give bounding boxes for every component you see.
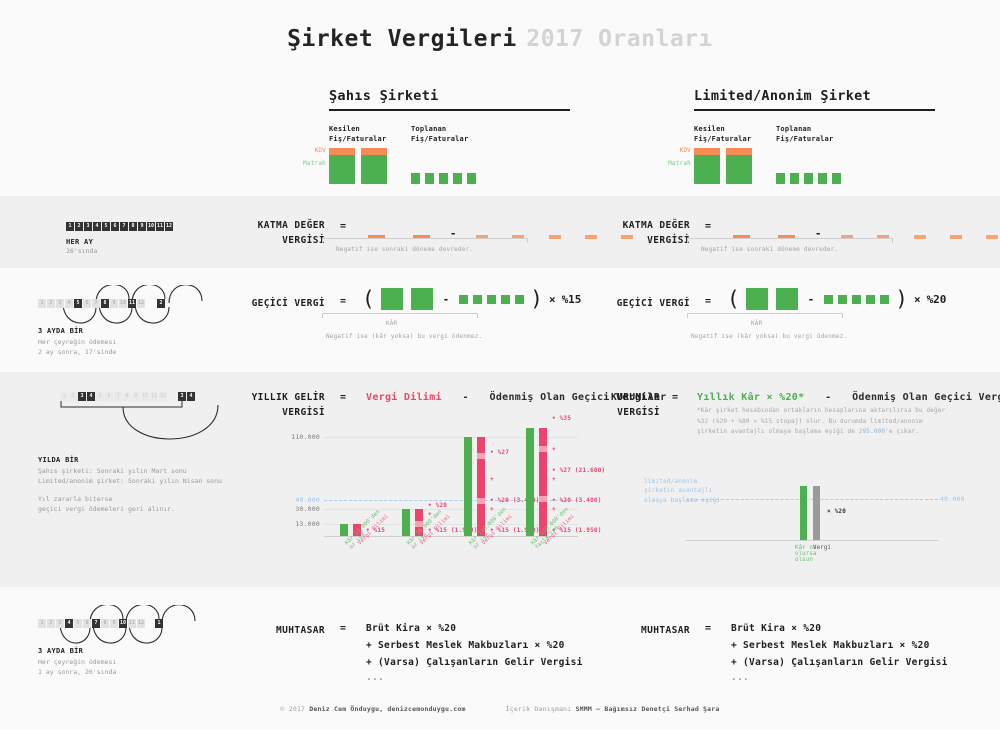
calendar-her-ay: 123456789101112 HER AY 26'sında xyxy=(66,222,173,256)
calendar-sub-3: Yıl zararla biterse xyxy=(38,494,112,504)
column-header-rule xyxy=(329,109,570,111)
muhtasar-line-1: Brüt Kira × %20 xyxy=(731,623,821,634)
calendar-cell-6: 6 xyxy=(83,619,91,628)
gecici-label: GEÇİCİ VERGİ xyxy=(195,296,325,311)
threshold-label: 40.000 xyxy=(278,496,320,504)
footer-copyright: © 2017 xyxy=(280,705,309,713)
muhtasar-equals-2: = xyxy=(705,623,711,634)
footer-advisor: SMMM – Bağımsız Denetçi Serhad Şara xyxy=(576,705,720,713)
toplanan-bar xyxy=(818,173,827,184)
y-tick-13.000: 13.000 xyxy=(278,520,320,528)
calendar-strip: 123456789101112 xyxy=(60,392,167,401)
calendar-cell-11: 11 xyxy=(150,392,158,401)
kdv-brace xyxy=(322,238,528,243)
tax-annotation-3-1: + xyxy=(552,446,556,453)
tax-annotation-3-3: + xyxy=(552,476,556,483)
calendar-cell-4: 4 xyxy=(65,299,73,308)
kurumlar-footnote: *Kâr şirket hesabından ortakların hesapl… xyxy=(697,406,945,438)
vergi-dilimi-term: Vergi Dilimi xyxy=(366,392,442,403)
chart-vergi-dilimi: 13.00030.000110.00040.000• %15Kâr 13.000… xyxy=(278,424,578,564)
toplanan-bar xyxy=(790,173,799,184)
calendar-cell-8: 8 xyxy=(101,619,109,628)
muhtasar-line-1: Brüt Kira × %20 xyxy=(366,623,456,634)
footnote-line-3: şirketin avantajlı olmaya başlama eşiği … xyxy=(697,427,945,438)
paren-close: ) xyxy=(530,287,543,311)
gider-bar xyxy=(880,295,889,304)
gecici-note-2: Negatif ise (kâr yoksa) bu vergi ödenmez… xyxy=(691,333,847,340)
calendar-cell-5: 5 xyxy=(74,619,82,628)
yillik-label-line2: VERGİSİ xyxy=(282,407,325,418)
chart-kurumlar-vergisi: 40.000Kâr neolursaolsunVergi× %20limited… xyxy=(686,478,966,568)
matrah-legend-label: Matrah xyxy=(661,160,691,167)
calendar-cell-9: 9 xyxy=(132,392,140,401)
calendar-cell-2: 2 xyxy=(75,222,83,231)
yillik-equals: = xyxy=(340,392,346,403)
calendar-cell-7: 7 xyxy=(120,222,128,231)
paren-open: ( xyxy=(362,287,375,311)
gecici-expression-limited: ( - ) × %20 xyxy=(727,287,946,311)
gider-bar xyxy=(487,295,496,304)
footnote-line-2: %32 (%20 + %80 × %15 stopaj) olur. Bu du… xyxy=(697,417,945,428)
calendar-cell-extra: 1 xyxy=(155,619,163,628)
kdv-bar-collected xyxy=(986,235,998,239)
calendar-cell-12: 12 xyxy=(159,392,167,401)
kar-bar xyxy=(381,288,403,310)
kurumlar-bar-label-1: Vergi xyxy=(813,545,831,551)
gider-bar xyxy=(501,295,510,304)
multiply-operator: × xyxy=(549,293,556,306)
toplanan-label: ToplananFiş/Faturalar xyxy=(411,124,476,144)
gecici-label-2: GEÇİCİ VERGİ xyxy=(560,296,690,311)
tax-annotation-3-5: + xyxy=(552,506,556,513)
kdv-label-line2: VERGİSİ xyxy=(282,235,325,246)
calendar-cell-1: 1 xyxy=(60,392,68,401)
kurumlar-bar-0 xyxy=(800,486,807,540)
calendar-sub-1: Her çeyreğin ödemesi xyxy=(38,657,116,667)
calendar-caption: HER AY xyxy=(66,238,173,246)
calendar-cell-extra: 2 xyxy=(157,299,165,308)
calendar-cell-3: 3 xyxy=(84,222,92,231)
calendar-sub-2: 1 ay sonra, 26'sında xyxy=(38,667,116,677)
kar-brace-label-2: KÂR xyxy=(751,320,762,327)
tax-annotation-2-0: • %27 xyxy=(490,449,509,456)
kesilen-bar xyxy=(694,148,720,184)
calendar-cell-11: 11 xyxy=(128,619,136,628)
threshold-annotation: limited/anonimşirketin avantajlıolmaya b… xyxy=(644,477,720,506)
gider-bar xyxy=(515,295,524,304)
toplanan-bar xyxy=(439,173,448,184)
column-header-sahis-label: Şahıs Şirketi xyxy=(329,88,570,109)
gecici-equals: = xyxy=(340,296,346,307)
calendar-sub: 26'sında xyxy=(66,246,173,256)
column-header-limited-label: Limited/Anonim Şirket xyxy=(694,88,935,109)
yillik-kar-term: Yıllık Kâr × %20* xyxy=(697,392,804,403)
footnote-line-3c: 'e çıkar. xyxy=(885,428,919,435)
toplanan-label: ToplananFiş/Faturalar xyxy=(776,124,841,144)
calendar-cell-8: 8 xyxy=(101,299,109,308)
kurumlar-formula: Yıllık Kâr × %20* - Ödenmiş Olan Geçici … xyxy=(697,392,1000,403)
calendar-3-ayda-bir-muhtasar: 123456789101112 1 3 AYDA BİR Her çeyreği… xyxy=(38,605,218,665)
calendar-cell-6: 6 xyxy=(83,299,91,308)
paren-open: ( xyxy=(727,287,740,311)
calendar-cell-12: 12 xyxy=(165,222,173,231)
calendar-cell-3: 3 xyxy=(78,392,86,401)
gider-bar xyxy=(473,295,482,304)
kar-brace-label: KÂR xyxy=(386,320,397,327)
kurumlar-rate-label: × %20 xyxy=(827,508,846,515)
gider-bar xyxy=(866,295,875,304)
kdv-bar-collected xyxy=(914,235,926,239)
calendar-cell-10: 10 xyxy=(119,619,127,628)
kdv-formula-label-2: KATMA DEĞER VERGİSİ xyxy=(560,218,690,248)
kesilen-label: KesilenFiş/Faturalar xyxy=(329,124,387,144)
odenmis-gecici-term: Ödenmiş Olan Geçici Vergiler xyxy=(852,392,1000,403)
calendar-cell-4: 4 xyxy=(93,222,101,231)
kdv-formula-label: KATMA DEĞER VERGİSİ xyxy=(195,218,325,248)
footnote-line-1: *Kâr şirket hesabından ortakların hesapl… xyxy=(697,406,945,417)
y-tick-110.000: 110.000 xyxy=(278,433,320,441)
kesilen-label: KesilenFiş/Faturalar xyxy=(694,124,752,144)
kdv-label-line2: VERGİSİ xyxy=(647,235,690,246)
column-header-sahis: Şahıs Şirketi xyxy=(329,88,570,111)
threshold-label: 40.000 xyxy=(940,495,982,503)
y-tick-30.000: 30.000 xyxy=(278,505,320,513)
calendar-cell-3: 3 xyxy=(56,299,64,308)
kdv-note-2: Negatif ise sonraki döneme devreder. xyxy=(701,246,838,253)
calendar-cell-4: 4 xyxy=(65,619,73,628)
profit-bar-2 xyxy=(464,437,472,536)
muhtasar-label-2: MUHTASAR xyxy=(560,623,690,638)
kurumlar-equals: = xyxy=(672,392,678,403)
kurumlar-label-line2: VERGİSİ xyxy=(617,407,660,418)
calendar-cell-2: 2 xyxy=(47,299,55,308)
kdv-bar-collected xyxy=(950,235,962,239)
profit-bar-1 xyxy=(402,509,410,536)
gider-bar xyxy=(459,295,468,304)
muhtasar-line-3: + (Varsa) Çalışanların Gelir Vergisi xyxy=(731,657,948,668)
calendar-sub-1: Her çeyreğin ödemesi xyxy=(38,337,116,347)
calendar-cell-12: 12 xyxy=(137,619,145,628)
footer-advisor-prefix: İçerik Danışmanı xyxy=(506,705,576,713)
calendar-cell-9: 9 xyxy=(110,299,118,308)
gider-bar xyxy=(838,295,847,304)
calendar-cell-9: 9 xyxy=(110,619,118,628)
calendar-cell-11: 11 xyxy=(128,299,136,308)
kdv-bar-collected xyxy=(549,235,561,239)
calendar-strip: 123456789101112 xyxy=(38,299,145,308)
kdv-label-line1: KATMA DEĞER xyxy=(258,220,325,231)
kesilen-bar xyxy=(361,148,387,184)
muhtasar-line-4: ... xyxy=(731,672,749,683)
tax-annotation-2-1: + xyxy=(490,476,494,483)
calendar-cell-5: 5 xyxy=(74,299,82,308)
footnote-threshold-value: 295.000 xyxy=(859,428,885,435)
minus-operator: - xyxy=(808,293,815,306)
kesilen-bar xyxy=(726,148,752,184)
profit-bar-0 xyxy=(340,524,348,536)
tax-annotation-3-2: • %27 (21.600) xyxy=(552,467,605,474)
column-header-rule xyxy=(694,109,935,111)
calendar-cell-6: 6 xyxy=(111,222,119,231)
calendar-strip: 123456789101112 xyxy=(38,619,145,628)
calendar-cell-5: 5 xyxy=(96,392,104,401)
tax-bar-2 xyxy=(477,437,485,536)
calendar-strip-next-year: 34 xyxy=(178,392,195,401)
kdv-equals: = xyxy=(340,221,346,232)
toplanan-bar xyxy=(411,173,420,184)
toplanan-bar xyxy=(467,173,476,184)
calendar-cell-next-3: 3 xyxy=(178,392,186,401)
calendar-cell-4: 4 xyxy=(87,392,95,401)
gider-bar xyxy=(824,295,833,304)
calendar-cell-2: 2 xyxy=(69,392,77,401)
calendar-cell-10: 10 xyxy=(147,222,155,231)
kdv-equals-2: = xyxy=(705,221,711,232)
tax-annotation-3-4: • %20 (3.400) xyxy=(552,497,602,504)
tax-segment-divider xyxy=(539,496,547,502)
tax-segment-divider xyxy=(539,446,547,452)
profit-bar-3 xyxy=(526,428,534,536)
footer: © 2017 Deniz Cem Önduygu, denizcemonduyg… xyxy=(0,705,1000,713)
muhtasar-line-4: ... xyxy=(366,672,384,683)
calendar-sub-4: geçici vergi ödemeleri geri alınır. xyxy=(38,504,175,514)
minus-operator: - xyxy=(825,392,831,403)
tax-segment-divider xyxy=(477,453,485,459)
matrah-legend-label: Matrah xyxy=(296,160,326,167)
calendar-cell-3: 3 xyxy=(56,619,64,628)
tax-segment-divider xyxy=(477,498,485,504)
gecici-expression-sahis: ( - ) × %15 xyxy=(362,287,581,311)
kdv-label-line1: KATMA DEĞER xyxy=(623,220,690,231)
gider-bar xyxy=(852,295,861,304)
tax-annotation-2-3: + xyxy=(490,506,494,513)
calendar-cell-12: 12 xyxy=(137,299,145,308)
calendar-caption: YILDA BİR xyxy=(38,456,79,464)
calendar-cell-1: 1 xyxy=(38,299,46,308)
kdv-brace-2 xyxy=(687,238,893,243)
paren-close: ) xyxy=(895,287,908,311)
muhtasar-line-2: + Serbest Meslek Makbuzları × %20 xyxy=(731,640,930,651)
toplanan-bar xyxy=(776,173,785,184)
calendar-cell-7: 7 xyxy=(92,619,100,628)
calendar-cell-6: 6 xyxy=(105,392,113,401)
calendar-cell-1: 1 xyxy=(66,222,74,231)
title-main: Şirket Vergileri xyxy=(287,26,517,52)
toplanan-bar xyxy=(804,173,813,184)
calendar-cell-1: 1 xyxy=(38,619,46,628)
gecici-brace xyxy=(322,313,478,318)
yillik-label-line1: YILLIK GELİR xyxy=(252,392,325,403)
multiply-operator: × xyxy=(914,293,921,306)
muhtasar-line-3: + (Varsa) Çalışanların Gelir Vergisi xyxy=(366,657,583,668)
title-subtitle: 2017 Oranları xyxy=(526,26,713,52)
calendar-cell-7: 7 xyxy=(92,299,100,308)
gecici-rate-limited: %20 xyxy=(927,293,947,306)
page-title: Şirket Vergileri 2017 Oranları xyxy=(0,26,1000,52)
kar-bar xyxy=(746,288,768,310)
muhtasar-label: MUHTASAR xyxy=(195,623,325,638)
tax-bar-3 xyxy=(539,428,547,536)
tax-annotation-1-0: • %20 xyxy=(428,502,447,509)
muhtasar-equals: = xyxy=(340,623,346,634)
x-axis-baseline xyxy=(686,540,938,541)
toplanan-bar xyxy=(832,173,841,184)
calendar-cell-9: 9 xyxy=(138,222,146,231)
calendar-cell-11: 11 xyxy=(156,222,164,231)
calendar-caption: 3 AYDA BİR xyxy=(38,327,83,335)
calendar-strip: 123456789101112 xyxy=(66,222,173,231)
muhtasar-line-2: + Serbest Meslek Makbuzları × %20 xyxy=(366,640,565,651)
kdv-legend-label: KDV xyxy=(300,147,326,154)
minus-operator: - xyxy=(443,293,450,306)
gecici-brace-2 xyxy=(687,313,843,318)
tax-annotation-3-0: • %35 xyxy=(552,415,571,422)
kar-bar xyxy=(776,288,798,310)
kar-bar xyxy=(411,288,433,310)
calendar-cell-10: 10 xyxy=(119,299,127,308)
kdv-legend-label: KDV xyxy=(665,147,691,154)
gecici-equals-2: = xyxy=(705,296,711,307)
toplanan-bar xyxy=(425,173,434,184)
calendar-cell-10: 10 xyxy=(141,392,149,401)
kesilen-bar xyxy=(329,148,355,184)
calendar-sub-1: Şahıs şirketi: Sonraki yılın Mart sonu xyxy=(38,466,187,476)
footnote-line-3a: şirketin avantajlı olmaya başlama eşiği … xyxy=(697,428,859,435)
calendar-sub-2: Limited/anonim şirket: Sonraki yılın Nis… xyxy=(38,476,222,486)
calendar-sub-2: 2 ay sonra, 17'sinde xyxy=(38,347,116,357)
calendar-cell-2: 2 xyxy=(47,619,55,628)
gecici-note: Negatif ise (kâr yoksa) bu vergi ödenmez… xyxy=(326,333,482,340)
footer-author: Deniz Cem Önduygu, denizcemonduygu.com xyxy=(309,705,465,713)
kurumlar-label: KURUMLAR VERGİSİ xyxy=(530,390,660,420)
threshold-line-40000 xyxy=(686,499,938,500)
yillik-label: YILLIK GELİR VERGİSİ xyxy=(195,390,325,420)
calendar-cell-8: 8 xyxy=(123,392,131,401)
calendar-cell-next-4: 4 xyxy=(187,392,195,401)
minus-operator: - xyxy=(463,392,469,403)
calendar-cell-5: 5 xyxy=(102,222,110,231)
calendar-cell-7: 7 xyxy=(114,392,122,401)
toplanan-bar xyxy=(453,173,462,184)
calendar-cell-8: 8 xyxy=(129,222,137,231)
kurumlar-label-line1: KURUMLAR xyxy=(611,392,660,403)
calendar-3-ayda-bir-gecici: 123456789101112 2 3 AYDA BİR Her çeyreği… xyxy=(38,285,218,345)
column-header-limited: Limited/Anonim Şirket xyxy=(694,88,935,111)
kurumlar-bar-1 xyxy=(813,486,820,540)
calendar-caption: 3 AYDA BİR xyxy=(38,647,83,655)
kdv-note: Negatif ise sonraki döneme devreder. xyxy=(336,246,473,253)
